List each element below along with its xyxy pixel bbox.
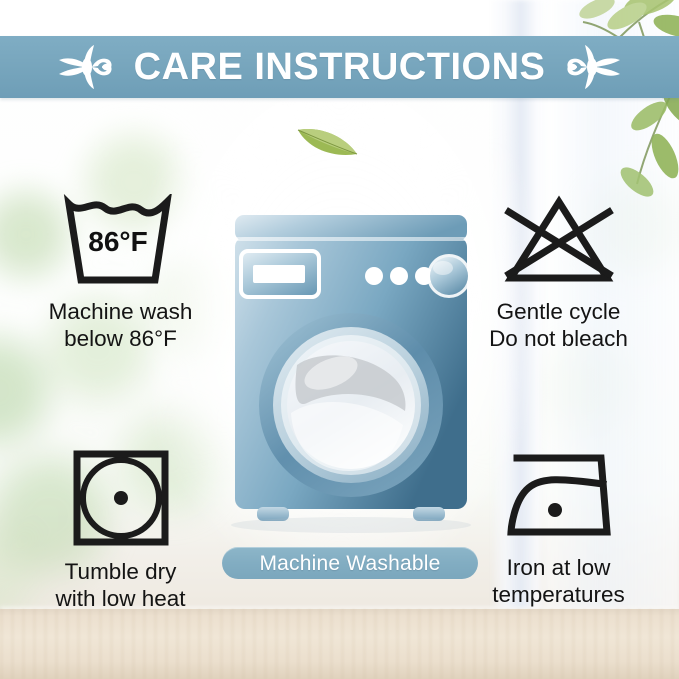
iron-icon xyxy=(497,446,621,546)
tumble-dry-square-icon xyxy=(69,446,173,550)
care-symbol-caption: Gentle cycle Do not bleach xyxy=(489,298,628,353)
plant-leaves-icon xyxy=(487,0,679,201)
care-symbol-caption: Tumble dry with low heat xyxy=(55,558,185,613)
wash-tub-icon: 86°F xyxy=(61,194,181,290)
badge-label: Machine Washable xyxy=(259,553,440,574)
wash-temperature-value: 86°F xyxy=(88,226,147,257)
page-title: CARE INSTRUCTIONS xyxy=(134,48,546,86)
washing-machine-illustration xyxy=(227,213,475,538)
machine-washable-badge: Machine Washable xyxy=(222,547,478,579)
care-instructions-infographic: CARE INSTRUCTIONS 86°F Machine wash belo… xyxy=(0,0,679,679)
care-symbol-machine-wash: 86°F Machine wash below 86°F xyxy=(8,194,233,353)
care-symbol-gentle-cycle-no-bleach: Gentle cycle Do not bleach xyxy=(446,194,671,353)
header-banner: CARE INSTRUCTIONS xyxy=(0,36,679,98)
floating-leaf-icon xyxy=(295,120,361,160)
care-symbol-tumble-dry: Tumble dry with low heat xyxy=(8,446,233,613)
fleur-de-lis-left-icon xyxy=(54,44,116,90)
indicator-dot xyxy=(390,267,408,285)
triangle-crossed-out-icon xyxy=(499,194,619,290)
care-symbol-iron-low: Iron at low temperatures xyxy=(446,446,671,609)
indicator-dot xyxy=(365,267,383,285)
wooden-table-surface xyxy=(0,609,679,679)
care-symbol-caption: Iron at low temperatures xyxy=(492,554,625,609)
fleur-de-lis-right-icon xyxy=(563,44,625,90)
care-symbol-caption: Machine wash below 86°F xyxy=(49,298,193,353)
